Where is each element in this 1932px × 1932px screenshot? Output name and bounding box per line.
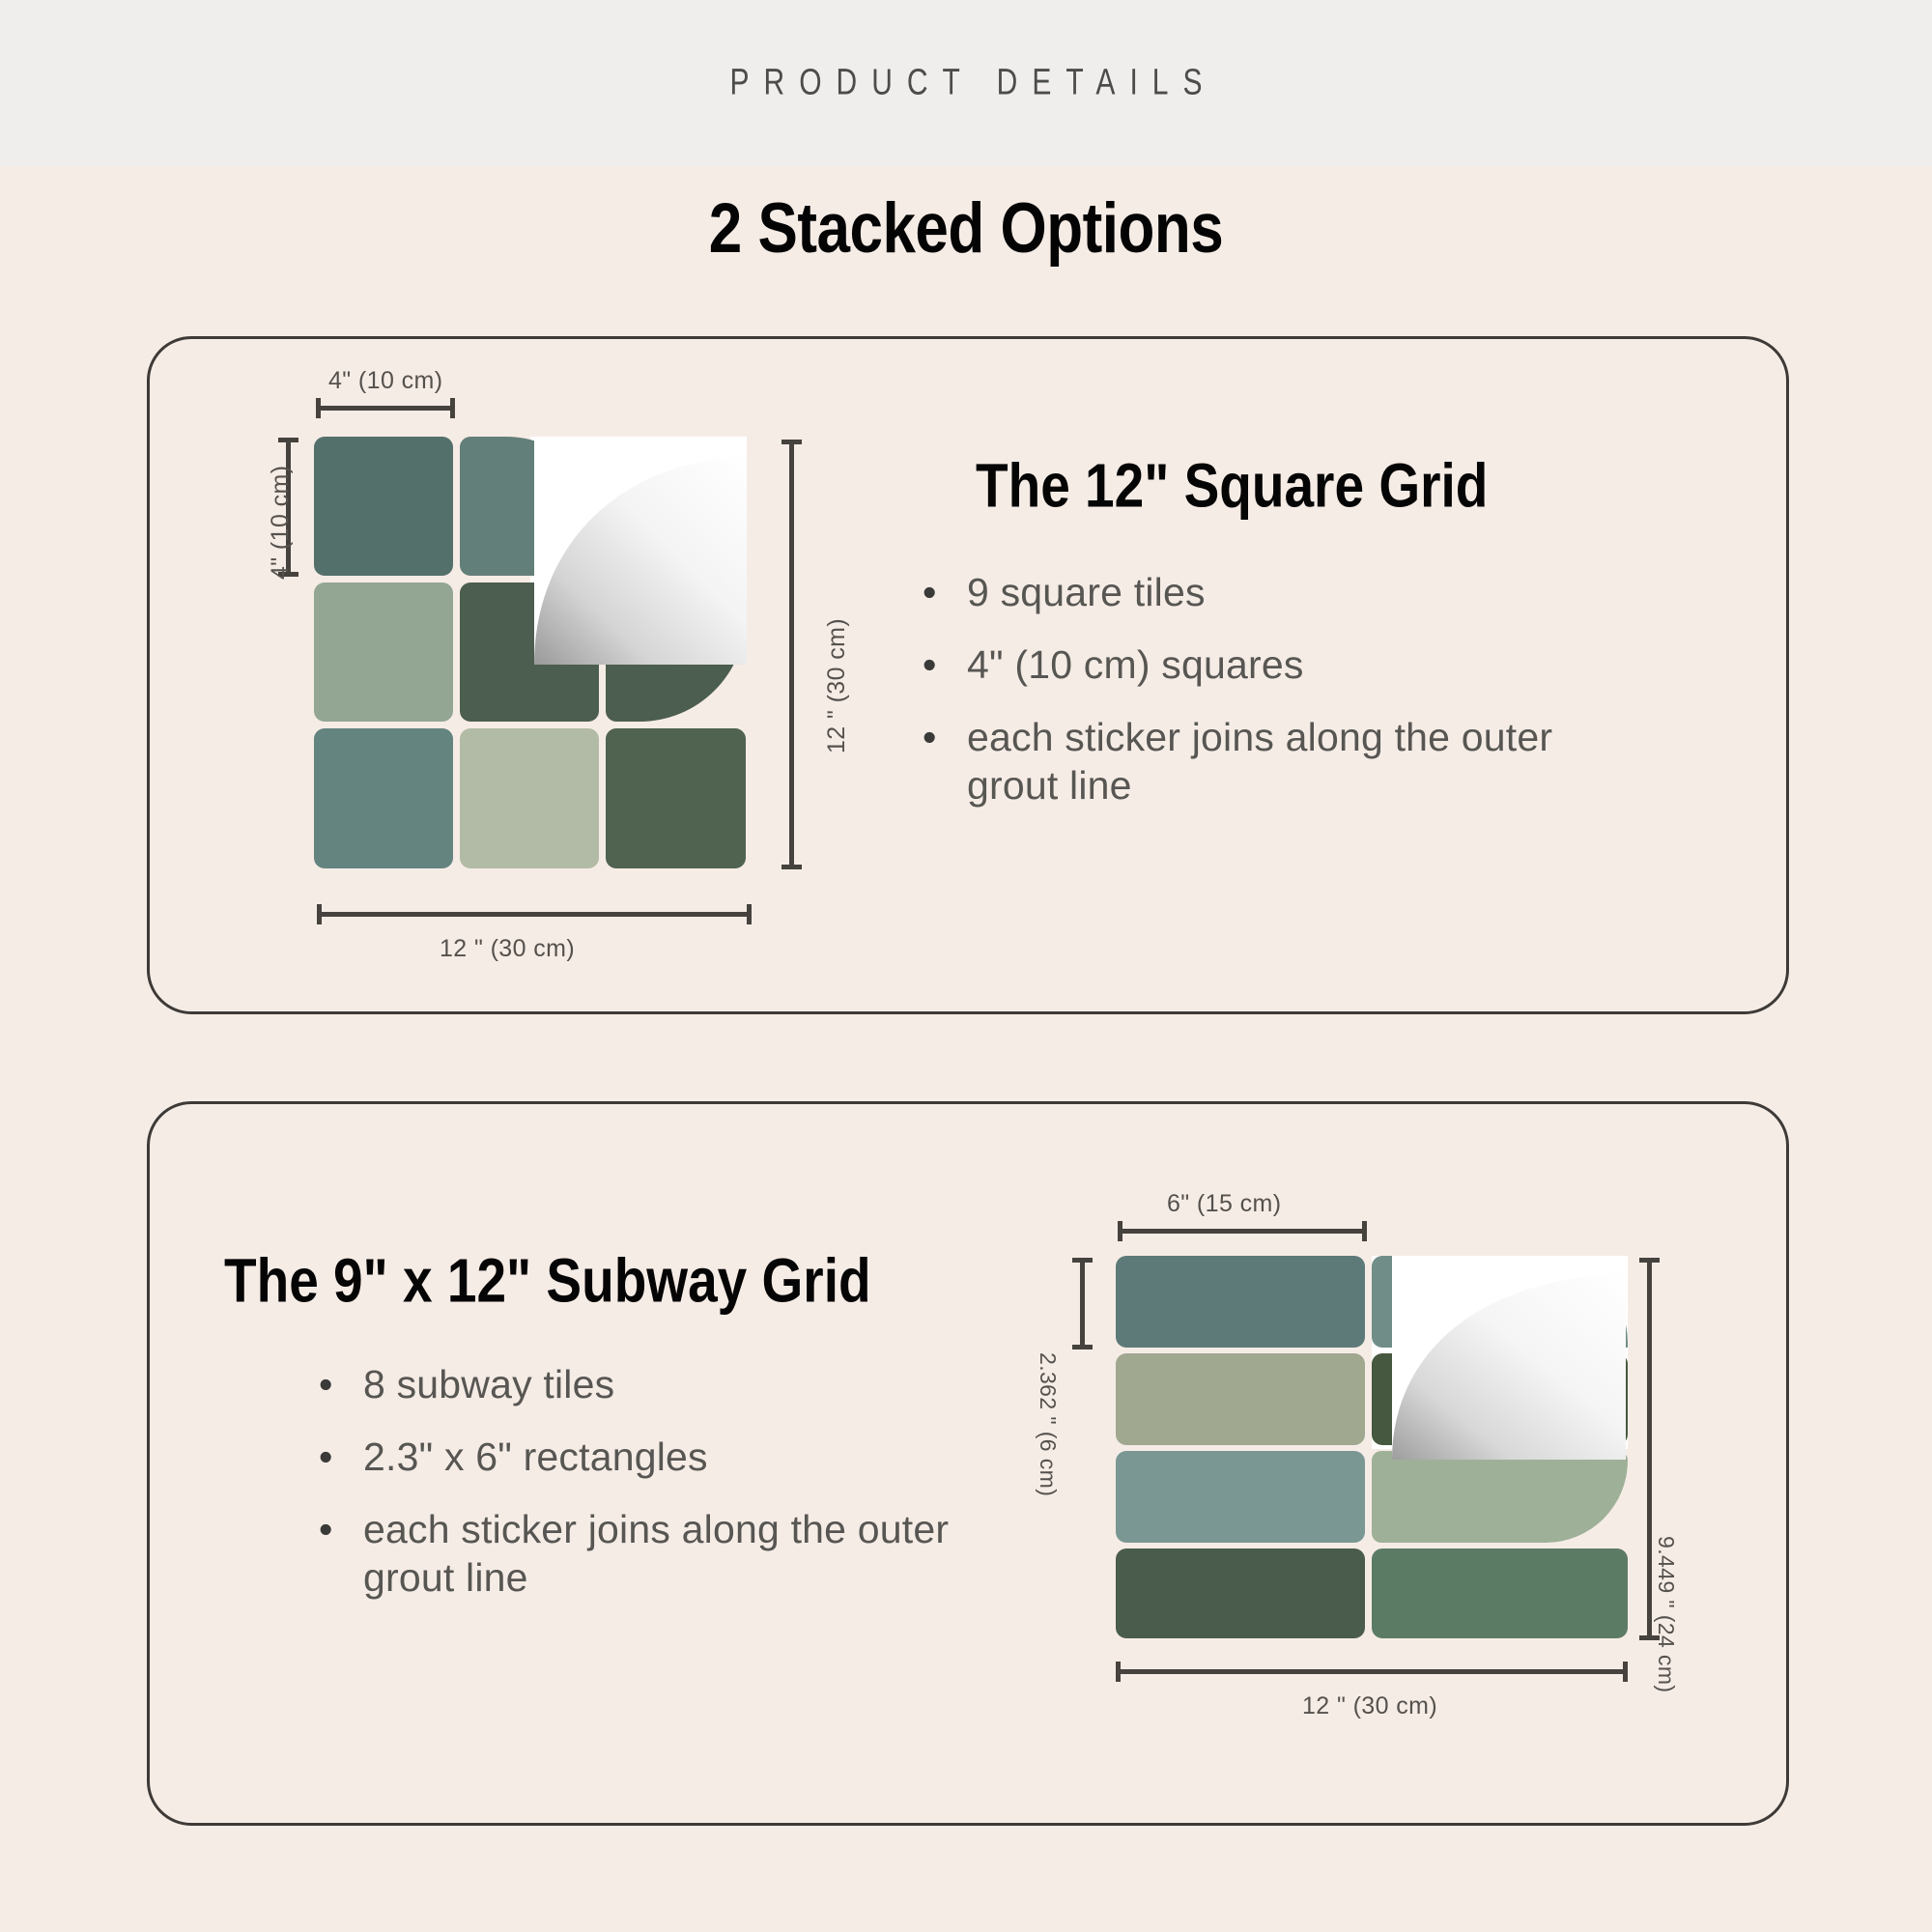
peel-corner-icon xyxy=(517,435,749,667)
list-item: • 2.3" x 6" rectangles xyxy=(319,1433,956,1482)
tile xyxy=(314,728,453,868)
bullet-text: each sticker joins along the outer grout… xyxy=(967,713,1579,811)
bullet-text: 8 subway tiles xyxy=(363,1360,956,1409)
option-heading-subway-grid: The 9" x 12" Subway Grid xyxy=(224,1244,871,1317)
dimension-line-tile-height xyxy=(1080,1258,1085,1350)
bullet-dot-icon: • xyxy=(319,1433,363,1482)
option-bullets-subway-grid: • 8 subway tiles • 2.3" x 6" rectangles … xyxy=(319,1360,956,1626)
tile xyxy=(314,582,453,722)
tile xyxy=(1116,1256,1365,1348)
tile xyxy=(1372,1451,1628,1543)
dimension-line-tile-width xyxy=(316,406,455,411)
option-bullets-square-grid: • 9 square tiles • 4" (10 cm) squares • … xyxy=(923,568,1579,834)
bullet-dot-icon: • xyxy=(923,568,967,617)
bullet-text: 2.3" x 6" rectangles xyxy=(363,1433,956,1482)
tile xyxy=(1116,1548,1365,1638)
dimension-label-sheet-height: 12 " (30 cm) xyxy=(823,618,851,753)
option-heading-square-grid: The 12" Square Grid xyxy=(976,449,1488,522)
bullet-dot-icon: • xyxy=(319,1505,363,1604)
product-details-page: PRODUCT DETAILS 2 Stacked Options The 12… xyxy=(0,0,1932,1932)
dimension-label-sheet-width: 12 " (30 cm) xyxy=(440,935,575,963)
header-band: PRODUCT DETAILS xyxy=(0,0,1932,166)
eyebrow-label: PRODUCT DETAILS xyxy=(716,62,1217,104)
dimension-label-sheet-width: 12 " (30 cm) xyxy=(1302,1692,1437,1720)
dimension-line-sheet-width xyxy=(1116,1669,1628,1674)
bullet-dot-icon: • xyxy=(923,640,967,690)
list-item: • 8 subway tiles xyxy=(319,1360,956,1409)
list-item: • each sticker joins along the outer gro… xyxy=(319,1505,956,1604)
list-item: • 9 square tiles xyxy=(923,568,1579,617)
tile xyxy=(314,437,453,576)
list-item: • each sticker joins along the outer gro… xyxy=(923,713,1579,811)
bullet-text: each sticker joins along the outer grout… xyxy=(363,1505,956,1604)
bullet-text: 4" (10 cm) squares xyxy=(967,640,1579,690)
dimension-label-tile-height: 2.362 " (6 cm) xyxy=(1035,1352,1061,1496)
tile xyxy=(1116,1451,1365,1543)
peel-corner-icon xyxy=(1377,1254,1628,1462)
dimension-line-tile-width xyxy=(1118,1229,1367,1234)
tile xyxy=(1372,1548,1628,1638)
dimension-line-sheet-height xyxy=(1647,1258,1652,1640)
bullet-dot-icon: • xyxy=(319,1360,363,1409)
dimension-label-tile-width: 4" (10 cm) xyxy=(328,367,442,395)
bullet-dot-icon: • xyxy=(923,713,967,811)
tile xyxy=(460,728,599,868)
square-grid-illustration xyxy=(314,437,746,868)
list-item: • 4" (10 cm) squares xyxy=(923,640,1579,690)
tile xyxy=(1116,1353,1365,1445)
dimension-line-sheet-height xyxy=(789,440,794,869)
subway-grid-illustration xyxy=(1116,1256,1628,1638)
dimension-line-sheet-width xyxy=(317,912,752,917)
page-title: 2 Stacked Options xyxy=(0,188,1932,270)
tile xyxy=(606,728,746,868)
bullet-text: 9 square tiles xyxy=(967,568,1579,617)
dimension-label-tile-height: 4" (10 cm) xyxy=(267,466,295,580)
dimension-label-tile-width: 6" (15 cm) xyxy=(1167,1190,1281,1218)
dimension-label-sheet-height: 9.449 " (24 cm) xyxy=(1653,1536,1679,1692)
